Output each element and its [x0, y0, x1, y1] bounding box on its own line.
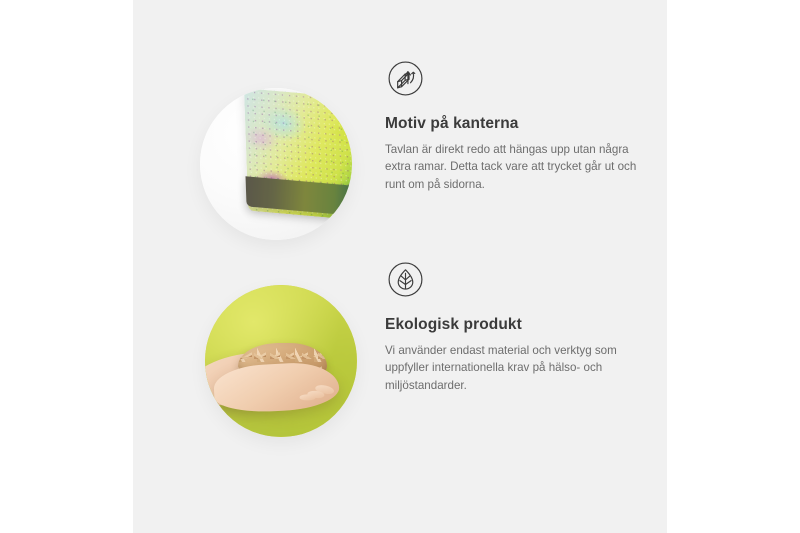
photo-backdrop [205, 285, 357, 437]
feature-block-motiv-pa-kanterna: Motiv på kanterna Tavlan är direkt redo … [133, 28, 667, 253]
feature-text-motiv-pa-kanterna: Motiv på kanterna Tavlan är direkt redo … [385, 58, 665, 193]
canvas-print-corner-photo [200, 88, 352, 240]
photo-backdrop [200, 88, 352, 240]
feature-title: Motiv på kanterna [385, 115, 665, 134]
feature-title: Ekologisk produkt [385, 316, 665, 335]
canvas-wrapped-edge-icon [385, 58, 426, 99]
leaf-icon [385, 259, 426, 300]
content-panel: Motiv på kanterna Tavlan är direkt redo … [133, 0, 667, 533]
product-feature-banner: Motiv på kanterna Tavlan är direkt redo … [0, 0, 800, 533]
feature-description: Tavlan är direkt redo att hängas upp uta… [385, 141, 653, 194]
feature-description: Vi använder endast material och verktyg … [385, 342, 653, 395]
finger [299, 394, 315, 400]
feature-block-ekologisk-produkt: Ekologisk produkt Vi använder endast mat… [133, 225, 667, 450]
feature-text-ekologisk-produkt: Ekologisk produkt Vi använder endast mat… [385, 259, 665, 394]
hands-holding-wood-chips-photo [205, 285, 357, 437]
